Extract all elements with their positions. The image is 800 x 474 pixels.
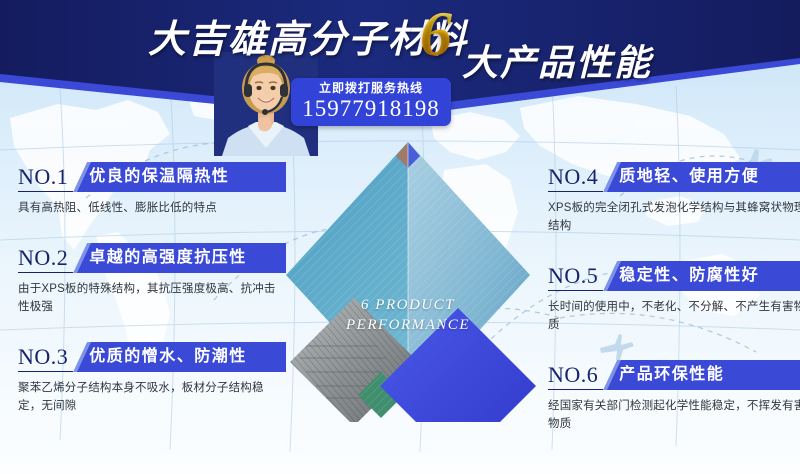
feature-item-no1[interactable]: NO.1 优良的保温隔热性 具有高热阻、低线性、膨胀比低的特点 <box>18 162 286 217</box>
feature-item-no6[interactable]: NO.6 产品环保性能 经国家有关部门检测起化学性能稳定，不挥发有害物质 <box>548 360 800 433</box>
feature-title-no6: 产品环保性能 <box>619 366 724 383</box>
feature-list-left: NO.1 优良的保温隔热性 具有高热阻、低线性、膨胀比低的特点 NO.2 卓越的… <box>18 162 286 441</box>
feature-title-badge-no4: 质地轻、使用方便 <box>603 162 800 192</box>
title-number-six: 6 <box>420 2 452 66</box>
hotline-box[interactable]: 立即拨打服务热线 15977918198 <box>291 78 451 126</box>
feature-head-no1: NO.1 优良的保温隔热性 <box>18 162 286 192</box>
title-subtitle: 大产品性能 <box>462 34 652 86</box>
feature-head-no2: NO.2 卓越的高强度抗压性 <box>18 243 286 273</box>
center-diamond-graphic: 6 PRODUCT PERFORMANCE <box>268 132 548 422</box>
feature-head-no6: NO.6 产品环保性能 <box>548 360 800 390</box>
hotline-label: 立即拨打服务热线 <box>291 81 451 96</box>
promo-banner: 大吉雄高分子材料 6 大产品性能 立即拨打服务热线 15977918198 <box>0 0 800 474</box>
feature-desc-no2: 由于XPS板的特殊结构，其抗压强度极高、抗冲击性极强 <box>18 280 276 316</box>
feature-desc-no4: XPS板的完全闭孔式发泡化学结构与其蜂窝状物理结构 <box>548 199 800 235</box>
feature-title-badge-no6: 产品环保性能 <box>603 360 800 390</box>
feature-list-right: NO.4 质地轻、使用方便 XPS板的完全闭孔式发泡化学结构与其蜂窝状物理结构 … <box>548 162 800 459</box>
hotline-number: 15977918198 <box>291 96 451 122</box>
feature-title-badge-no5: 稳定性、防腐性好 <box>603 261 800 291</box>
feature-item-no3[interactable]: NO.3 优质的憎水、防潮性 聚苯乙烯分子结构本身不吸水，板材分子结构稳定，无间… <box>18 342 286 415</box>
feature-head-no4: NO.4 质地轻、使用方便 <box>548 162 800 192</box>
feature-number-no3: NO.3 <box>18 342 73 372</box>
feature-title-no5: 稳定性、防腐性好 <box>619 267 759 284</box>
feature-desc-no3: 聚苯乙烯分子结构本身不吸水，板材分子结构稳定，无间隙 <box>18 379 276 415</box>
feature-number-no1: NO.1 <box>18 162 73 192</box>
feature-title-no2: 卓越的高强度抗压性 <box>89 249 247 266</box>
feature-desc-no5: 长时间的使用中，不老化、不分解、不产生有害物质 <box>548 298 800 334</box>
feature-title-badge-no2: 卓越的高强度抗压性 <box>73 243 286 273</box>
feature-head-no3: NO.3 优质的憎水、防潮性 <box>18 342 286 372</box>
feature-number-no2: NO.2 <box>18 243 73 273</box>
feature-title-no3: 优质的憎水、防潮性 <box>89 348 247 365</box>
feature-item-no5[interactable]: NO.5 稳定性、防腐性好 长时间的使用中，不老化、不分解、不产生有害物质 <box>548 261 800 334</box>
feature-title-badge-no3: 优质的憎水、防潮性 <box>73 342 286 372</box>
feature-desc-no1: 具有高热阻、低线性、膨胀比低的特点 <box>18 199 276 217</box>
feature-head-no5: NO.5 稳定性、防腐性好 <box>548 261 800 291</box>
feature-number-no5: NO.5 <box>548 261 603 291</box>
feature-number-no6: NO.6 <box>548 360 603 390</box>
feature-item-no2[interactable]: NO.2 卓越的高强度抗压性 由于XPS板的特殊结构，其抗压强度极高、抗冲击性极… <box>18 243 286 316</box>
feature-title-badge-no1: 优良的保温隔热性 <box>73 162 286 192</box>
feature-title-no1: 优良的保温隔热性 <box>89 168 229 185</box>
feature-title-no4: 质地轻、使用方便 <box>619 168 759 185</box>
feature-number-no4: NO.4 <box>548 162 603 192</box>
feature-desc-no6: 经国家有关部门检测起化学性能稳定，不挥发有害物质 <box>548 397 800 433</box>
feature-item-no4[interactable]: NO.4 质地轻、使用方便 XPS板的完全闭孔式发泡化学结构与其蜂窝状物理结构 <box>548 162 800 235</box>
